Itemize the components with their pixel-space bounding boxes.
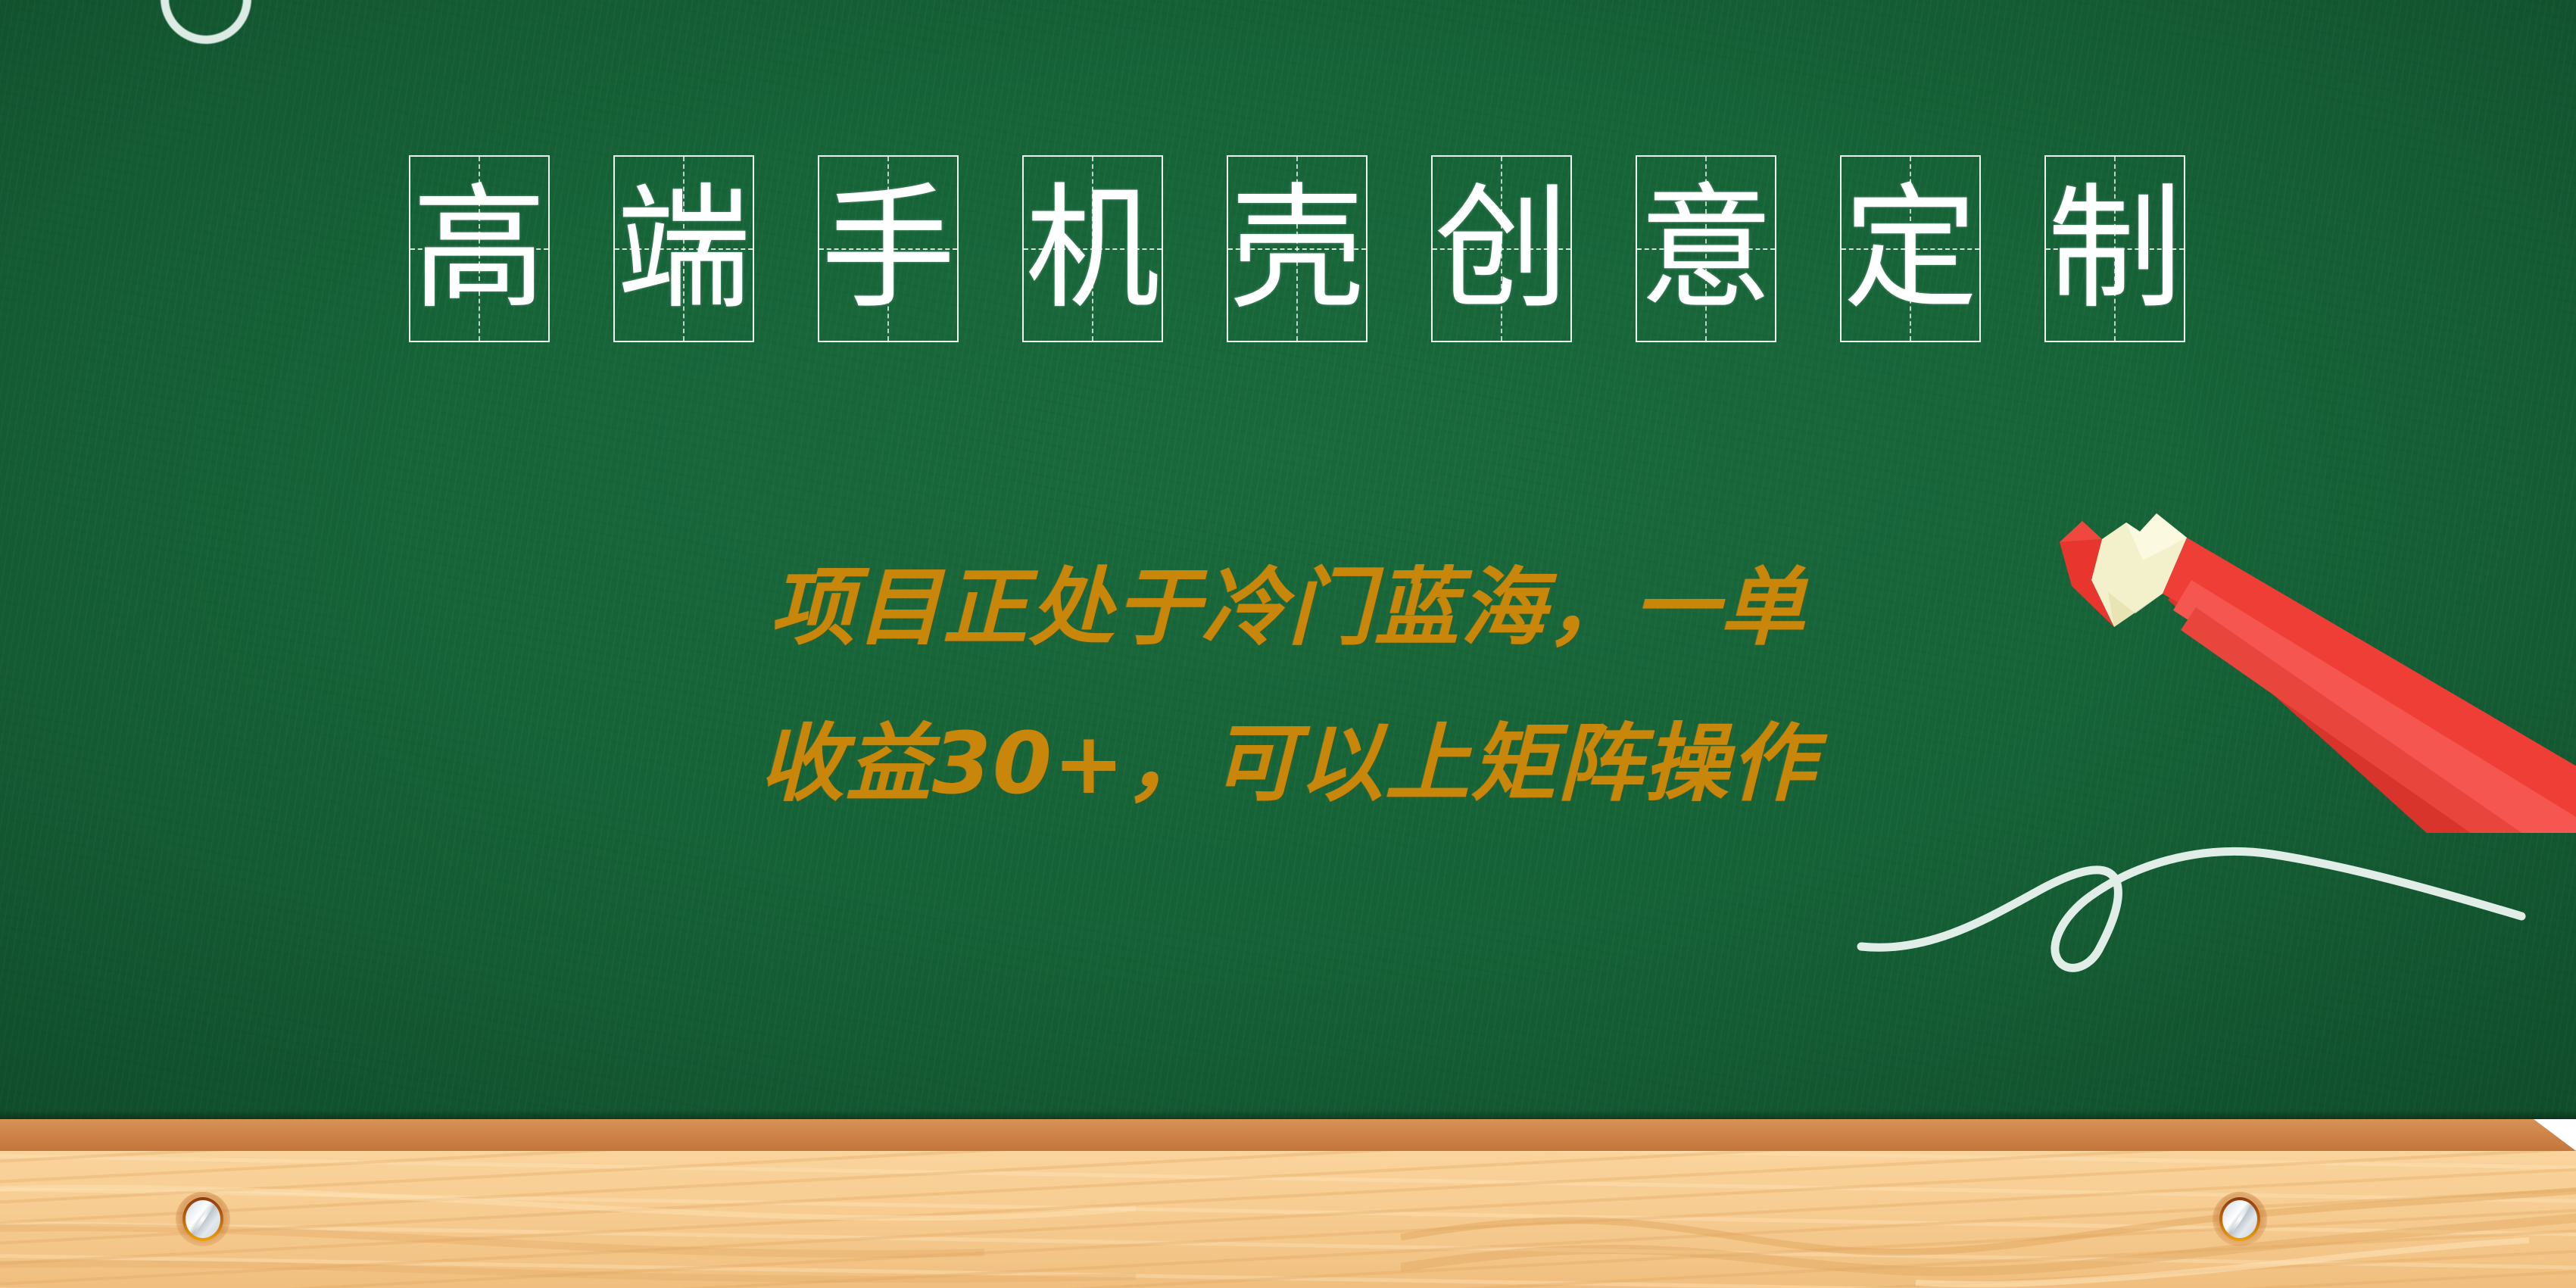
body-line: 项目正处于冷门蓝海，一单 [0,530,2576,686]
title-character: 手 [819,157,957,341]
body-text-block: 项目正处于冷门蓝海，一单 收益30+，可以上矩阵操作 [0,530,2576,842]
title-character: 高 [410,157,548,341]
title-character: 机 [1024,157,1162,341]
title-gridbox: 创 [1431,155,1572,342]
title-gridbox: 壳 [1227,155,1368,342]
screw-head [2222,1200,2257,1238]
title-character: 制 [2046,157,2184,341]
title-gridbox: 定 [1840,155,1981,342]
title-gridbox: 端 [613,155,754,342]
title-gridbox: 制 [2044,155,2185,342]
title-character: 意 [1637,157,1775,341]
title-gridbox: 机 [1022,155,1163,342]
wood-grain-icon [0,1159,1136,1287]
title-character: 创 [1433,157,1570,341]
screw-head [186,1200,220,1238]
wood-grain-icon [1401,1168,2576,1288]
title-grid-row: 高 端 手 机 壳 创 意 定 制 [409,155,2185,342]
title-character: 端 [615,157,753,341]
title-gridbox: 手 [818,155,959,342]
poster-root: 高 端 手 机 壳 创 意 定 制 项目正处于冷门蓝海，一单 收益30+，可以上… [0,0,2576,1288]
chalk-tray-face [0,1151,2576,1288]
title-gridbox: 高 [409,155,550,342]
screw-slot-icon [2229,1204,2251,1233]
title-character: 壳 [1228,157,1366,341]
screw-slot-icon [192,1204,214,1233]
screw-left [176,1192,230,1246]
title-gridbox: 意 [1636,155,1776,342]
body-line: 收益30+，可以上矩阵操作 [0,686,2576,842]
chalk-tray-lip [0,1119,2576,1151]
chalk-tray-lip-taper [2534,1119,2576,1151]
screw-right [2213,1192,2267,1246]
chalk-tray [0,1119,2576,1288]
title-character: 定 [1842,157,1979,341]
